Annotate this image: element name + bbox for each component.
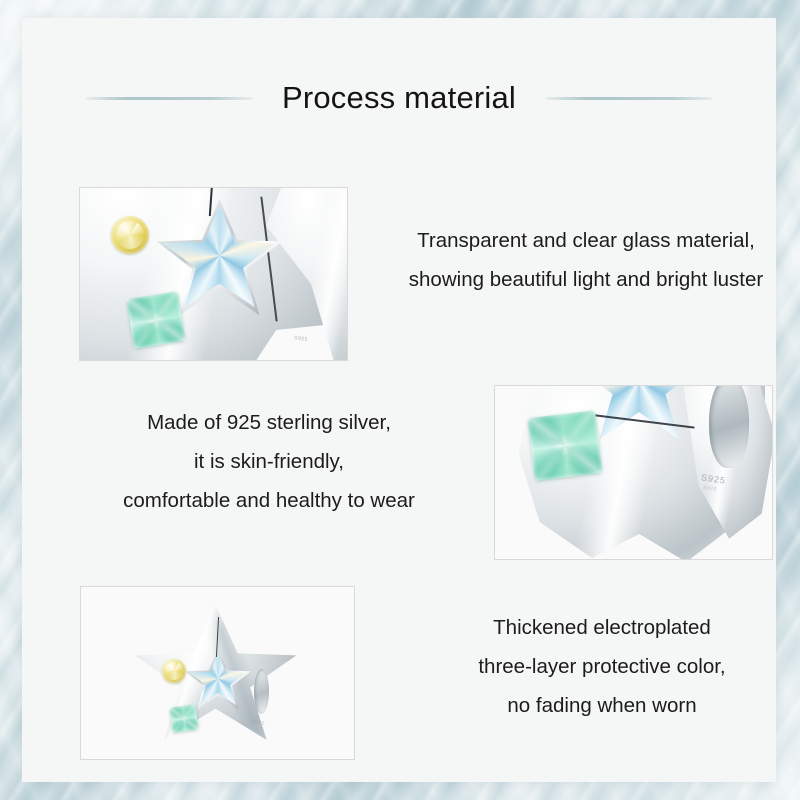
- feature-photo-macro-silver-surface-stamp: S925 S925: [494, 385, 773, 560]
- feature-photo-macro-star-charm-gems: S925: [79, 187, 348, 361]
- citrine-round-gem: [111, 216, 149, 254]
- emerald-square-gem: [126, 291, 185, 349]
- page-title: Process material: [282, 80, 516, 116]
- feature-text-line: Thickened electroplated: [422, 608, 782, 647]
- emerald-square-gem: [527, 410, 602, 481]
- feature-text-line: showing beautiful light and bright luste…: [366, 260, 800, 299]
- feature-text-line: three-layer protective color,: [422, 647, 782, 686]
- product-detail-infographic: Process material: [0, 0, 800, 800]
- citrine-round-gem: [162, 659, 186, 683]
- feature-text-line: no fading when worn: [422, 686, 782, 725]
- content-card: Process material: [22, 18, 776, 782]
- title-rule-right: [546, 97, 712, 100]
- page-title-row: Process material: [22, 68, 776, 128]
- feature-text-glass-material: Transparent and clear glass material, sh…: [366, 221, 800, 299]
- emerald-square-gem: [169, 704, 198, 732]
- feature-text-electroplated: Thickened electroplated three-layer prot…: [422, 608, 782, 725]
- feature-text-line: comfortable and healthy to wear: [64, 481, 474, 520]
- silver-purity-stamp: S925: [294, 335, 309, 343]
- charm-bore-hole: [254, 669, 269, 714]
- photo-canvas: S925 S925: [495, 386, 772, 559]
- title-rule-left: [86, 97, 252, 100]
- feature-text-sterling-silver: Made of 925 sterling silver, it is skin-…: [64, 403, 474, 520]
- photo-canvas: S925: [80, 188, 347, 360]
- feature-text-line: it is skin-friendly,: [64, 442, 474, 481]
- charm-bore-hole: [709, 385, 749, 468]
- photo-canvas: S925: [81, 587, 354, 759]
- feature-text-line: Transparent and clear glass material,: [366, 221, 800, 260]
- feature-text-line: Made of 925 sterling silver,: [64, 403, 474, 442]
- feature-photo-full-star-charm-bead: S925: [80, 586, 355, 760]
